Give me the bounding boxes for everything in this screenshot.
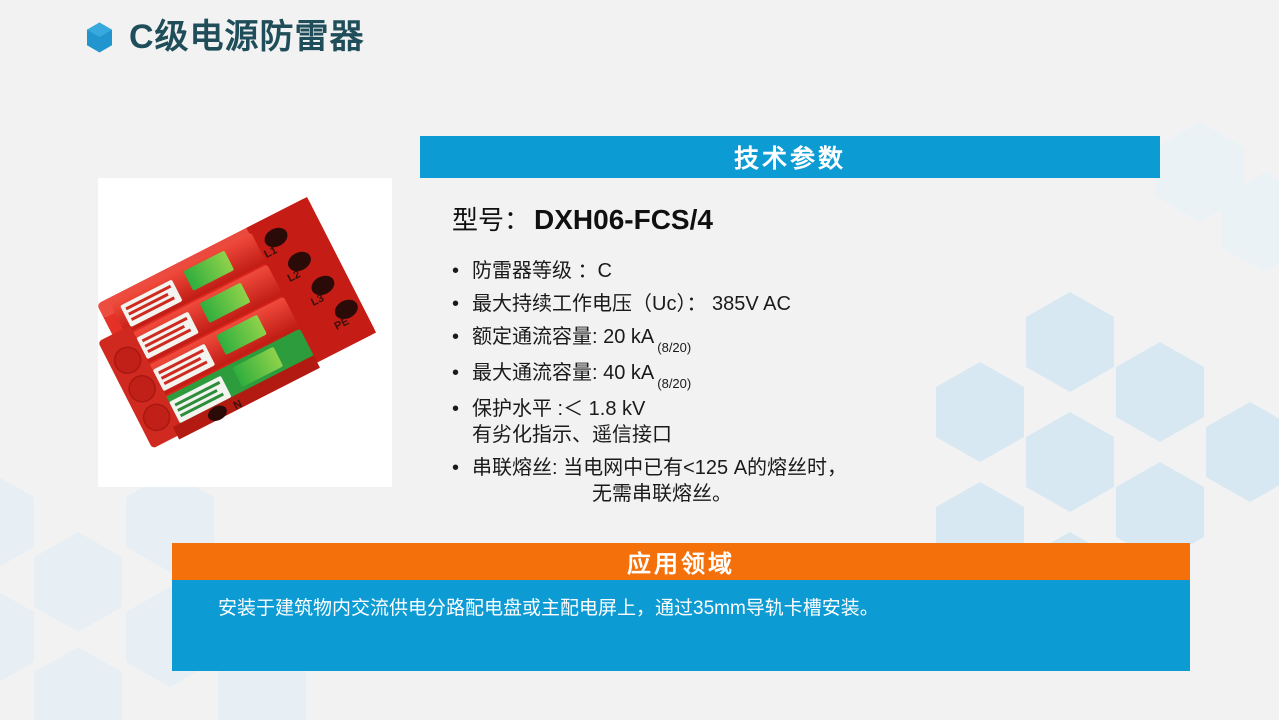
spec-item: • 保护水平 :＜ 1.8 kV有劣化指示、遥信接口 [452, 396, 1152, 448]
spec-text-wrap: 额定通流容量: 20 kA(8/20) [472, 324, 1152, 353]
spec-list: • 防雷器等级 ：C • 最大持续工作电压（Uc）： 385V AC • 额定通… [452, 258, 1152, 514]
model-label: 型号： [452, 200, 530, 237]
bullet-icon: • [452, 324, 472, 350]
spec-text-wrap: 串联熔丝: 当电网中已有<125 A的熔丝时，无需串联熔丝。 [472, 455, 1152, 507]
page-title-text: C级电源防雷器 [129, 20, 365, 54]
application-header-text: 应用领域 [627, 544, 735, 579]
spec-item: • 额定通流容量: 20 kA(8/20) [452, 324, 1152, 353]
application-header: 应用领域 [172, 543, 1190, 580]
spec-text-line2: 有劣化指示、遥信接口 [472, 422, 1152, 448]
spec-text-wrap: 最大通流容量: 40 kA(8/20) [472, 360, 1152, 389]
spec-text: 额定通流容量: 20 kA [472, 326, 654, 348]
bullet-icon: • [452, 396, 472, 422]
spec-text: 防雷器等级 ：C [472, 258, 1152, 284]
bullet-icon: • [452, 455, 472, 481]
spec-item: • 防雷器等级 ：C [452, 258, 1152, 284]
page-title: C级电源防雷器 [86, 20, 365, 54]
spec-subscript: (8/20) [657, 376, 691, 391]
spec-text: 串联熔丝: 当电网中已有<125 A的熔丝时， [472, 457, 847, 479]
application-body-text: 安装于建筑物内交流供电分路配电盘或主配电屏上，通过35mm导轨卡槽安装。 [218, 598, 879, 619]
tech-parameters-header: 技术参数 [420, 136, 1160, 178]
spec-text: 最大通流容量: 40 kA [472, 362, 654, 384]
model-line: 型号： DXH06-FCS/4 [452, 200, 713, 237]
spec-text-line2: 无需串联熔丝。 [472, 481, 1152, 507]
tech-parameters-header-text: 技术参数 [734, 139, 846, 175]
bullet-icon: • [452, 258, 472, 284]
spec-text: 保护水平 :＜ 1.8 kV [472, 398, 645, 420]
product-image: L1 L2 L3 PE [98, 178, 392, 487]
spec-text-wrap: 保护水平 :＜ 1.8 kV有劣化指示、遥信接口 [472, 396, 1152, 448]
application-body: 安装于建筑物内交流供电分路配电盘或主配电屏上，通过35mm导轨卡槽安装。 [172, 580, 1190, 671]
application-panel: 应用领域 安装于建筑物内交流供电分路配电盘或主配电屏上，通过35mm导轨卡槽安装… [172, 543, 1190, 671]
bullet-icon: • [452, 291, 472, 317]
spec-item: • 最大持续工作电压（Uc）： 385V AC [452, 291, 1152, 317]
spec-text: 最大持续工作电压（Uc）： 385V AC [472, 291, 1152, 317]
bullet-icon: • [452, 360, 472, 386]
spec-subscript: (8/20) [657, 340, 691, 355]
spec-item: • 最大通流容量: 40 kA(8/20) [452, 360, 1152, 389]
spec-item: • 串联熔丝: 当电网中已有<125 A的熔丝时，无需串联熔丝。 [452, 455, 1152, 507]
model-value: DXH06-FCS/4 [534, 204, 713, 236]
hexagon-icon [86, 22, 113, 53]
